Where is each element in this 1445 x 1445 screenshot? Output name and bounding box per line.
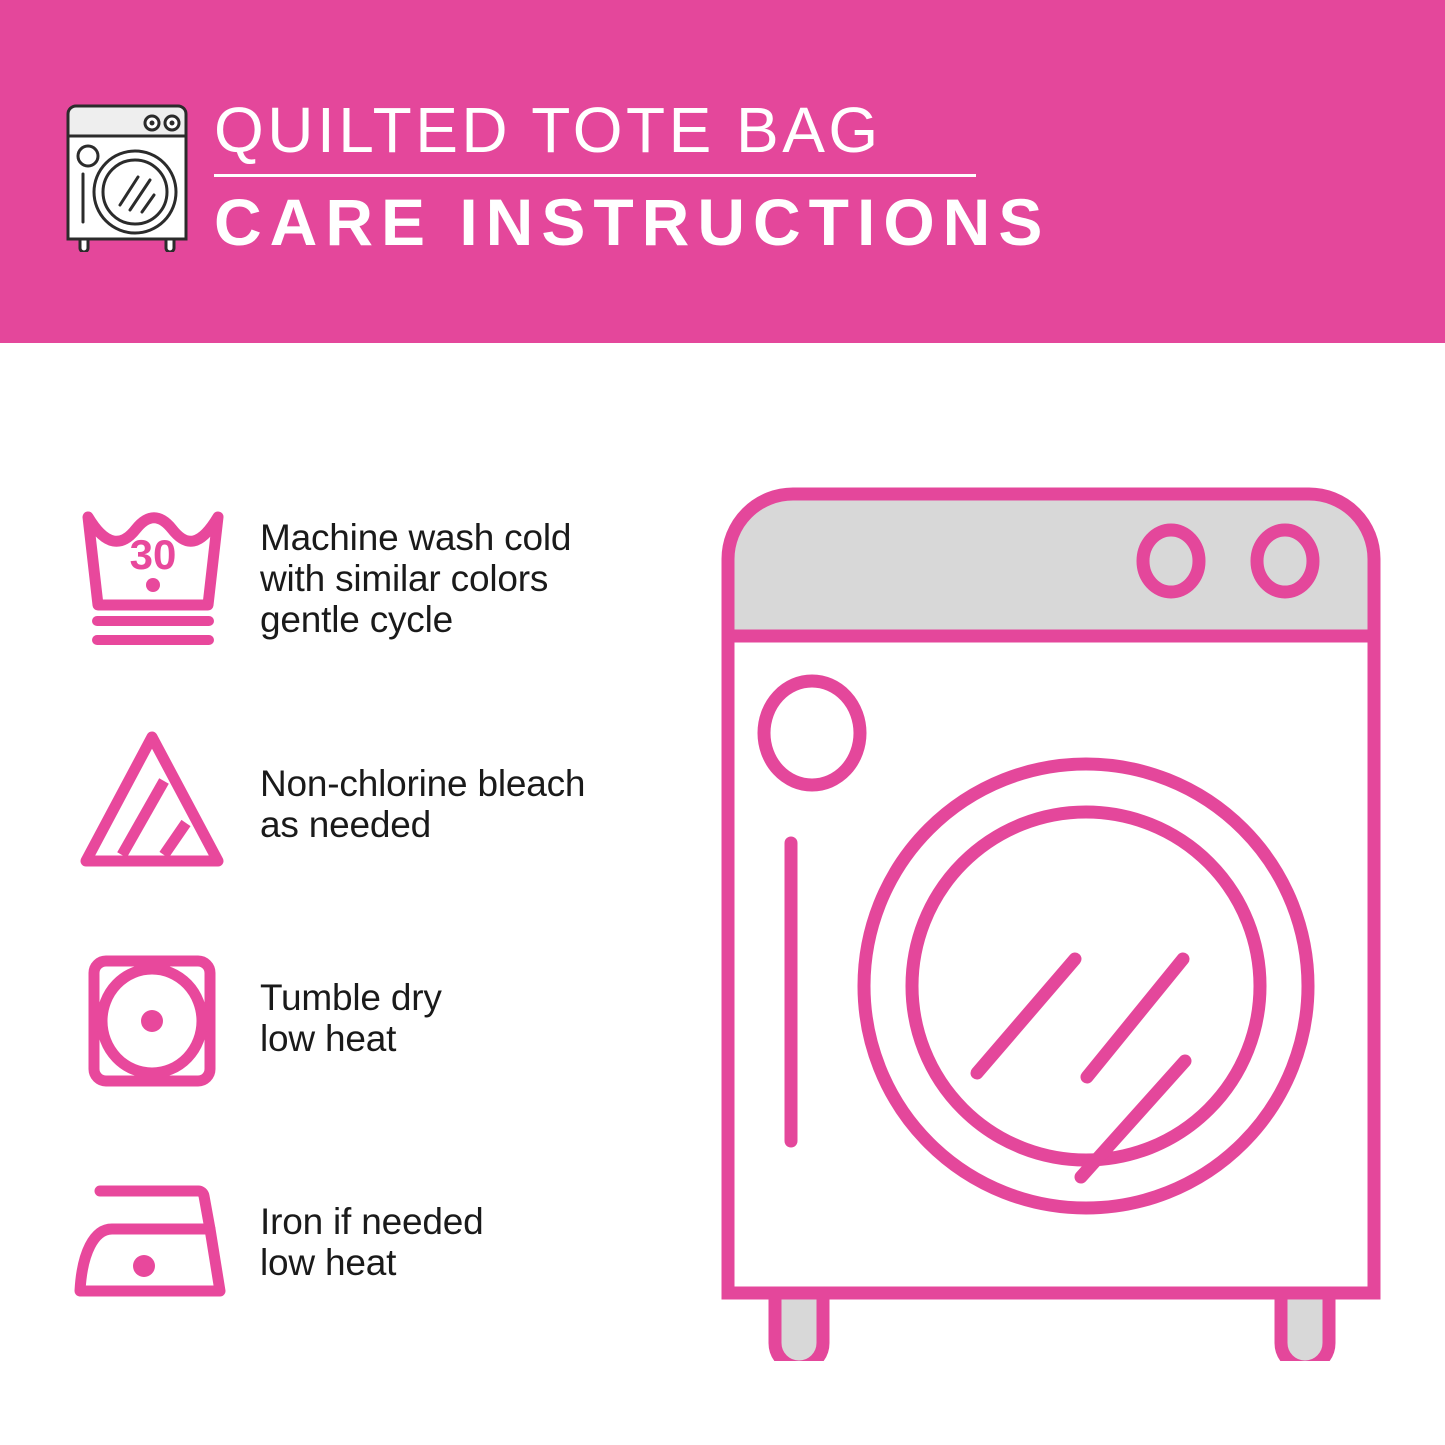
page-title: QUILTED TOTE BAG [214, 96, 1050, 164]
header-banner: QUILTED TOTE BAG CARE INSTRUCTIONS [0, 0, 1445, 343]
care-row-machine-wash: 30 Machine wash cold with similar colors… [68, 493, 688, 715]
care-instruction-list: 30 Machine wash cold with similar colors… [68, 493, 688, 1381]
care-row-bleach: Non-chlorine bleach as needed [68, 715, 688, 937]
title-divider [214, 174, 976, 177]
washing-machine-illustration [715, 481, 1387, 1361]
care-text-tumble-dry: Tumble dry low heat [260, 977, 442, 1059]
wash-tub-30-icon: 30 [68, 493, 236, 661]
wash-temperature-label: 30 [130, 531, 177, 578]
care-row-tumble-dry: Tumble dry low heat [68, 937, 688, 1159]
control-knob [1143, 530, 1199, 592]
machine-leg [1281, 1293, 1329, 1361]
care-text-iron: Iron if needed low heat [260, 1201, 483, 1283]
header-content: QUILTED TOTE BAG CARE INSTRUCTIONS [62, 96, 1050, 259]
iron-icon [68, 1159, 236, 1327]
bleach-triangle-icon [68, 715, 236, 883]
care-text-bleach: Non-chlorine bleach as needed [260, 763, 585, 845]
main-content: 30 Machine wash cold with similar colors… [0, 343, 1445, 1445]
control-knob [1257, 530, 1313, 592]
care-row-iron: Iron if needed low heat [68, 1159, 688, 1381]
header-titles: QUILTED TOTE BAG CARE INSTRUCTIONS [214, 96, 1050, 259]
tumble-dry-icon [68, 937, 236, 1105]
care-text-machine-wash: Machine wash cold with similar colors ge… [260, 517, 571, 640]
page-subtitle: CARE INSTRUCTIONS [214, 185, 1050, 259]
machine-leg [775, 1293, 823, 1361]
washing-machine-icon [62, 100, 192, 252]
